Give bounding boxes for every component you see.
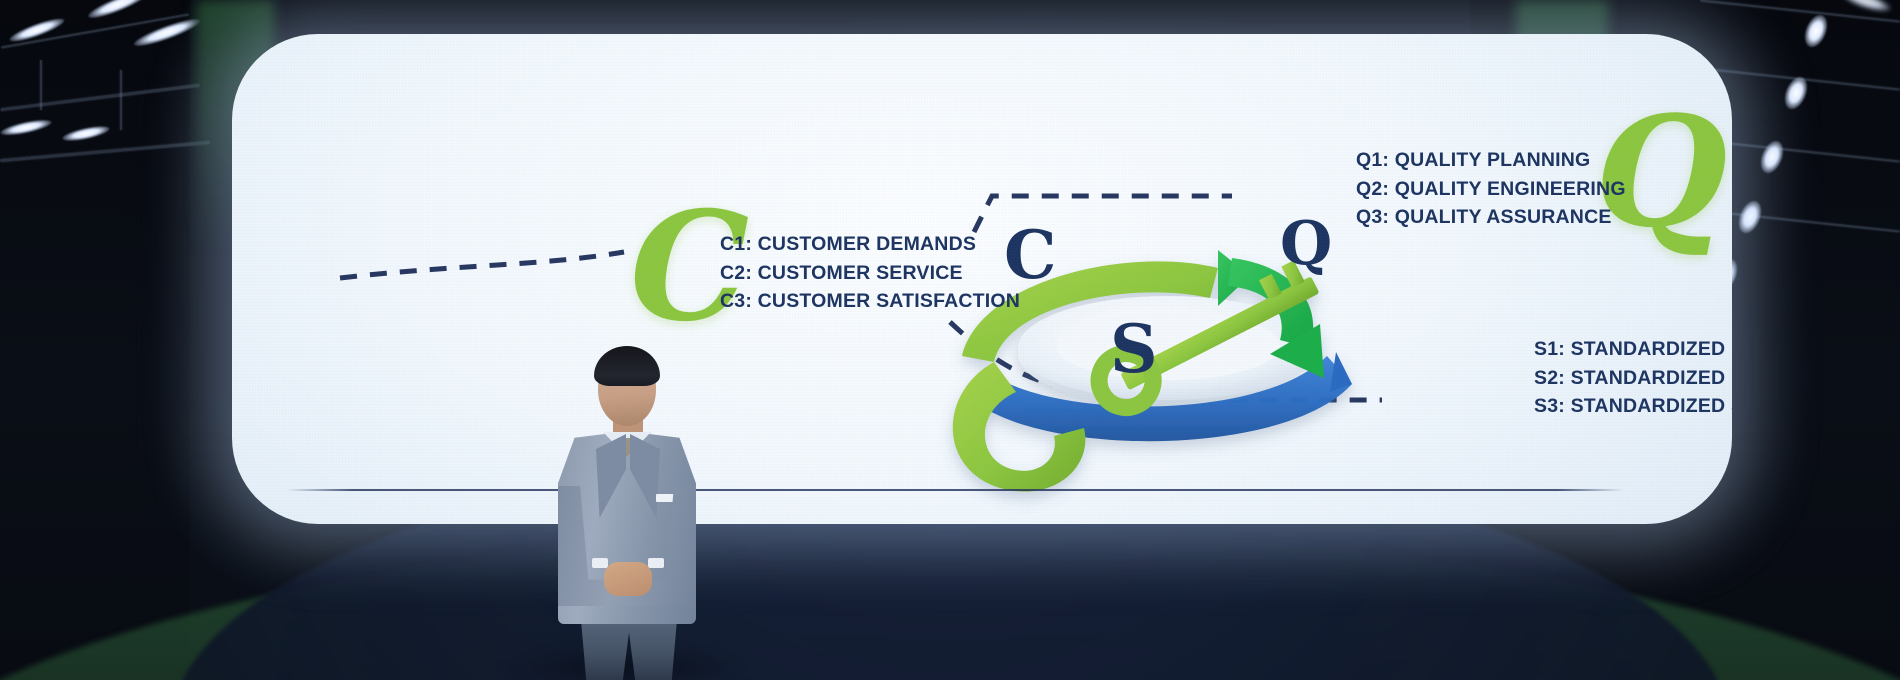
label-line-s1: S1: STANDARDIZED PRODUCTS bbox=[1534, 335, 1732, 364]
label-line-c2: C2: CUSTOMER SERVICE bbox=[720, 259, 1020, 288]
presenter-figure bbox=[552, 346, 702, 680]
stage-scene: C Q S bbox=[0, 0, 1900, 680]
label-line-q3: Q3: QUALITY ASSURANCE bbox=[1356, 203, 1626, 232]
presenter-cuff-right bbox=[648, 558, 664, 568]
emblem-letter-s: S bbox=[1110, 310, 1158, 388]
connector-c bbox=[340, 252, 624, 278]
label-block-standard: S1: STANDARDIZED PRODUCTS S2: STANDARDIZ… bbox=[1534, 335, 1732, 421]
label-block-customer: C1: CUSTOMER DEMANDS C2: CUSTOMER SERVIC… bbox=[720, 230, 1020, 316]
emblem-letter-q: Q bbox=[1280, 209, 1332, 279]
presenter-clasped-hands bbox=[604, 562, 652, 596]
label-line-s2: S2: STANDARDIZED PROCESSES bbox=[1534, 364, 1732, 393]
label-line-q2: Q2: QUALITY ENGINEERING bbox=[1356, 175, 1626, 204]
label-line-c1: C1: CUSTOMER DEMANDS bbox=[720, 230, 1020, 259]
label-block-quality: Q1: QUALITY PLANNING Q2: QUALITY ENGINEE… bbox=[1356, 146, 1626, 232]
presentation-screen[interactable]: C Q S bbox=[232, 34, 1732, 524]
presenter-cuff-left bbox=[592, 558, 608, 568]
hall-left-wall bbox=[0, 0, 190, 680]
presenter-hair bbox=[594, 346, 660, 386]
label-line-c3: C3: CUSTOMER SATISFACTION bbox=[720, 287, 1020, 316]
label-line-s3: S3: STANDARDIZED SYSTEM bbox=[1534, 392, 1732, 421]
slide-baseline-rule bbox=[286, 489, 1624, 491]
label-line-q1: Q1: QUALITY PLANNING bbox=[1356, 146, 1626, 175]
